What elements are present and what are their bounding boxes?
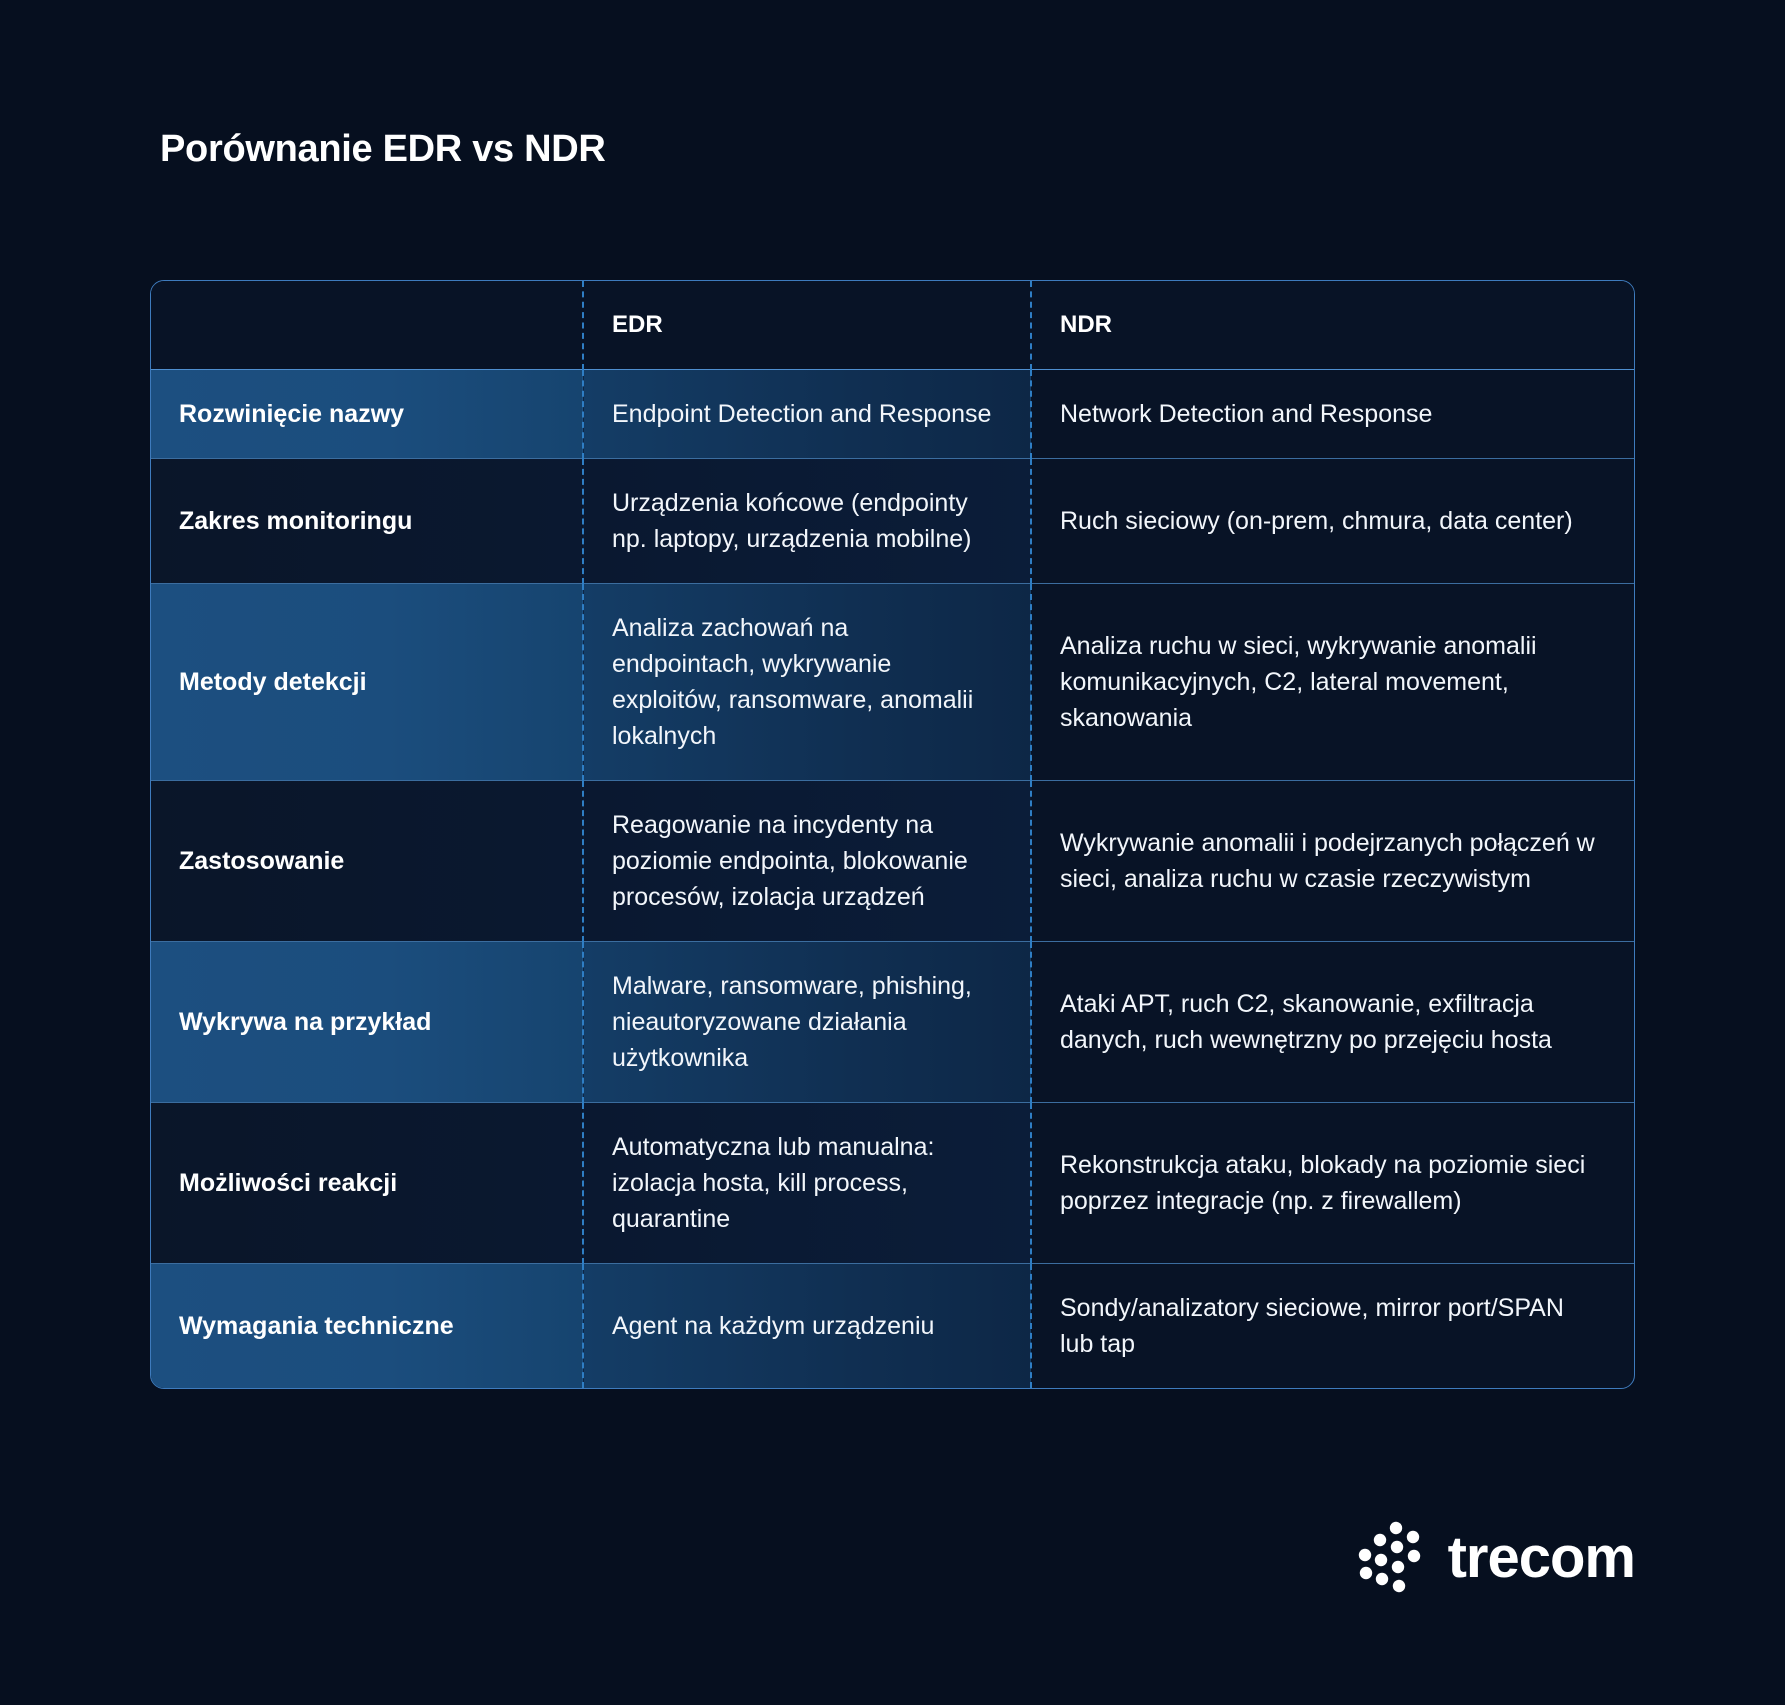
cell-ndr: Wykrywanie anomalii i podejrzanych połąc… — [1031, 780, 1635, 941]
row-label: Zakres monitoringu — [151, 458, 583, 583]
row-label: Zastosowanie — [151, 780, 583, 941]
brand-name: trecom — [1448, 1529, 1635, 1587]
cell-edr: Urządzenia końcowe (endpointy np. laptop… — [583, 458, 1031, 583]
table-body: Rozwinięcie nazwyEndpoint Detection and … — [151, 369, 1635, 1388]
cell-ndr: Rekonstrukcja ataku, blokady na poziomie… — [1031, 1102, 1635, 1263]
table-row: Możliwości reakcjiAutomatyczna lub manua… — [151, 1102, 1635, 1263]
cell-ndr: Network Detection and Response — [1031, 369, 1635, 458]
cell-edr: Malware, ransomware, phishing, nieautory… — [583, 941, 1031, 1102]
table-row: Metody detekcjiAnaliza zachowań na endpo… — [151, 583, 1635, 780]
column-header-edr: EDR — [583, 281, 1031, 369]
brand-logo: trecom — [1356, 1521, 1635, 1595]
column-header-ndr: NDR — [1031, 281, 1635, 369]
row-label: Rozwinięcie nazwy — [151, 369, 583, 458]
page-title: Porównanie EDR vs NDR — [160, 128, 606, 171]
table-row: Zakres monitoringuUrządzenia końcowe (en… — [151, 458, 1635, 583]
slide-canvas: Porównanie EDR vs NDR EDR NDR Rozwinięci… — [0, 0, 1785, 1705]
row-label: Metody detekcji — [151, 583, 583, 780]
table-row: Rozwinięcie nazwyEndpoint Detection and … — [151, 369, 1635, 458]
cell-ndr: Analiza ruchu w sieci, wykrywanie anomal… — [1031, 583, 1635, 780]
cell-edr: Endpoint Detection and Response — [583, 369, 1031, 458]
cell-edr: Automatyczna lub manualna: izolacja host… — [583, 1102, 1031, 1263]
comparison-table: EDR NDR Rozwinięcie nazwyEndpoint Detect… — [151, 281, 1635, 1388]
cell-edr: Analiza zachowań na endpointach, wykrywa… — [583, 583, 1031, 780]
cell-ndr: Ataki APT, ruch C2, skanowanie, exfiltra… — [1031, 941, 1635, 1102]
comparison-table-container: EDR NDR Rozwinięcie nazwyEndpoint Detect… — [150, 280, 1635, 1389]
row-label: Wymagania techniczne — [151, 1263, 583, 1388]
cell-ndr: Sondy/analizatory sieciowe, mirror port/… — [1031, 1263, 1635, 1388]
table-row: ZastosowanieReagowanie na incydenty na p… — [151, 780, 1635, 941]
trecom-dots-icon — [1356, 1521, 1430, 1595]
column-header-criteria — [151, 281, 583, 369]
table-row: Wymagania techniczneAgent na każdym urzą… — [151, 1263, 1635, 1388]
table-header-row: EDR NDR — [151, 281, 1635, 369]
table-head: EDR NDR — [151, 281, 1635, 369]
cell-ndr: Ruch sieciowy (on-prem, chmura, data cen… — [1031, 458, 1635, 583]
row-label: Możliwości reakcji — [151, 1102, 583, 1263]
table-row: Wykrywa na przykładMalware, ransomware, … — [151, 941, 1635, 1102]
cell-edr: Agent na każdym urządzeniu — [583, 1263, 1031, 1388]
row-label: Wykrywa na przykład — [151, 941, 583, 1102]
cell-edr: Reagowanie na incydenty na poziomie endp… — [583, 780, 1031, 941]
